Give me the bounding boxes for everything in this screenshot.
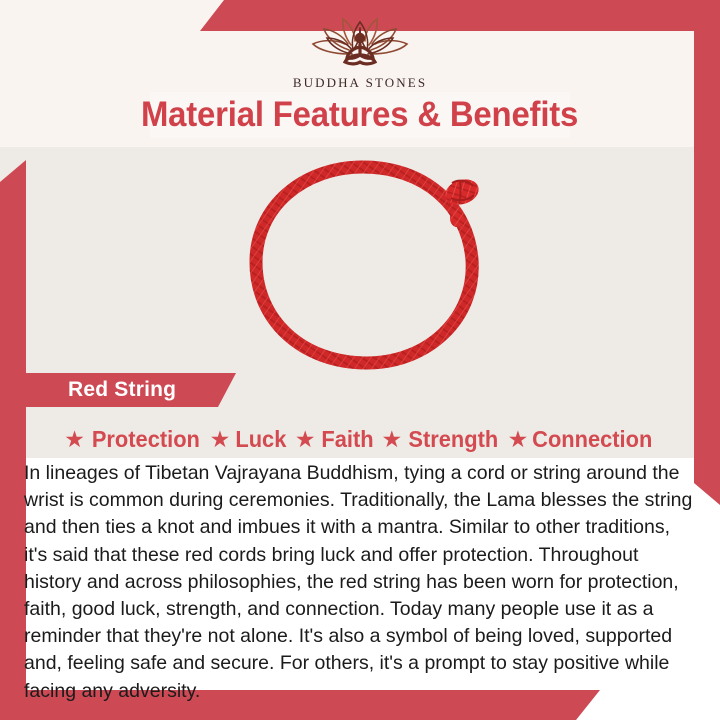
benefit-item-connection: ★ Connection	[508, 426, 656, 453]
product-name-ribbon: Red String	[26, 373, 236, 407]
brand-logo: BUDDHA STONES	[285, 14, 435, 91]
product-image	[230, 150, 500, 380]
brand-name: BUDDHA STONES	[285, 75, 435, 91]
benefit-item-faith: ★ Faith	[295, 426, 375, 453]
star-icon: ★	[64, 428, 85, 451]
benefit-label: Protection	[92, 426, 200, 453]
star-icon: ★	[508, 428, 529, 451]
benefits-row: ★ Protection ★ Luck ★ Faith ★ Strength ★…	[0, 420, 720, 458]
product-name-label: Red String	[26, 378, 176, 402]
benefit-label: Connection	[532, 426, 652, 453]
description-paragraph: In lineages of Tibetan Vajrayana Buddhis…	[24, 460, 696, 705]
star-icon: ★	[295, 428, 316, 451]
benefit-item-protection: ★ Protection	[64, 426, 202, 453]
red-string-bracelet-illustration	[230, 150, 500, 380]
page-title-band: Material Features & Benefits	[150, 92, 570, 138]
benefit-label: Faith	[321, 426, 373, 453]
benefit-item-luck: ★ Luck	[210, 426, 288, 453]
star-icon: ★	[210, 428, 231, 451]
infographic-page: BUDDHA STONES Material Features & Benefi…	[0, 0, 720, 720]
page-title: Material Features & Benefits	[141, 95, 578, 135]
benefit-label: Luck	[236, 426, 287, 453]
benefit-label: Strength	[408, 426, 498, 453]
star-icon: ★	[381, 428, 402, 451]
benefit-item-strength: ★ Strength	[381, 426, 500, 453]
lotus-meditation-icon	[305, 14, 415, 74]
page-header: BUDDHA STONES Material Features & Benefi…	[0, 0, 720, 147]
decorative-bar-left	[0, 160, 26, 400]
